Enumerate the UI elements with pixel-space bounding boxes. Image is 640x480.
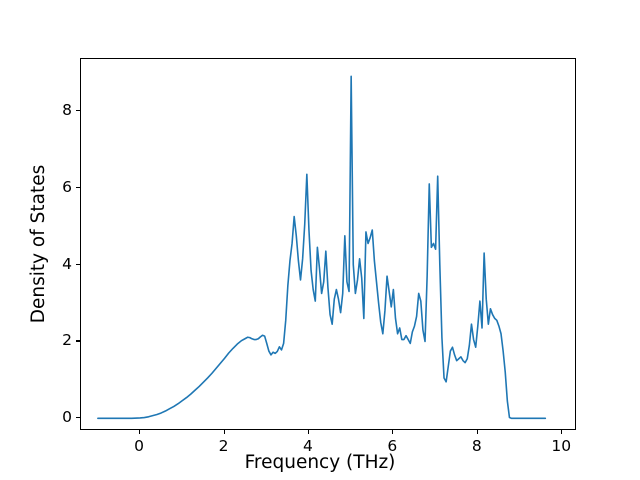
y-tick-label: 6 [62, 178, 72, 196]
x-tick-label: 4 [303, 437, 313, 455]
y-tick-label: 2 [62, 331, 72, 349]
dos-curve-svg [81, 59, 577, 431]
plot-area [80, 58, 576, 430]
density-of-states-line [98, 76, 545, 418]
x-tick-label: 6 [387, 437, 397, 455]
x-tick-label: 8 [472, 437, 482, 455]
y-axis-label: Density of States [26, 58, 52, 430]
y-tick-label: 8 [62, 101, 72, 119]
x-axis-label: Frequency (THz) [0, 452, 640, 473]
phonon-dos-figure: Density of States Frequency (THz) 02468 … [0, 0, 640, 480]
y-tick-label: 4 [62, 255, 72, 273]
y-tick-label: 0 [62, 408, 72, 426]
x-tick-label: 0 [134, 437, 144, 455]
x-tick-label: 10 [551, 437, 571, 455]
x-tick-label: 2 [219, 437, 229, 455]
